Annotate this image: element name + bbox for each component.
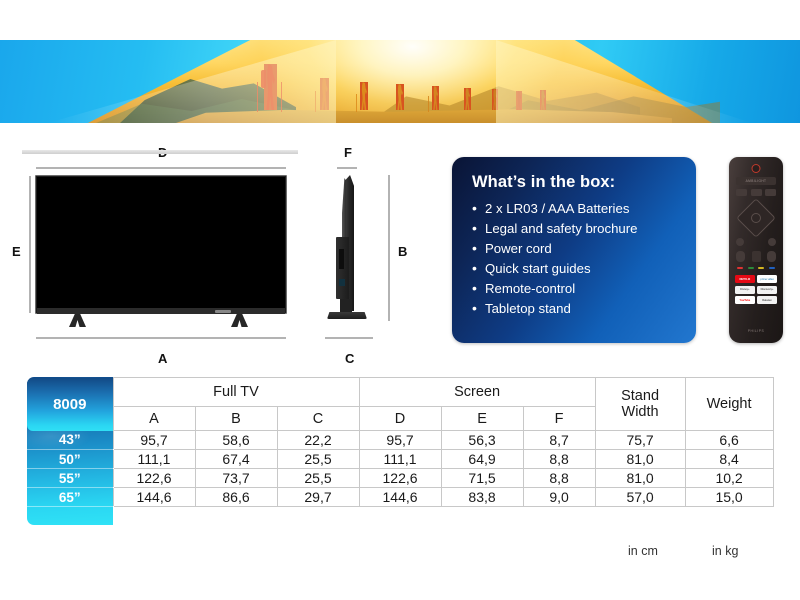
cell-c: 22,2 [277, 431, 359, 450]
red-button-icon [737, 267, 743, 269]
cell-f: 9,0 [523, 488, 595, 507]
tv-side-port-single [339, 279, 345, 286]
specifications-table-wrapper: 8009 Full TV Screen Stand Width Weight A… [27, 377, 773, 507]
ok-button-icon [751, 213, 761, 223]
sub-header-f: F [523, 407, 595, 431]
youtube-button: YouTube [735, 296, 755, 304]
tv-stand-base [327, 312, 367, 319]
power-button-icon [752, 164, 761, 173]
tv-side-view [331, 175, 361, 319]
sub-header-c: C [277, 407, 359, 431]
hiker-body [464, 88, 471, 110]
product-spec-sheet: D E A F B C What’s in the box: 2 x LR03 … [0, 0, 800, 600]
search-button-icon [751, 189, 762, 196]
sub-header-e: E [441, 407, 523, 431]
tv-foot-left [69, 314, 86, 327]
netflix-button: NETFLIX [735, 275, 755, 283]
dimension-line-d [36, 167, 286, 169]
remote-volume-row [736, 251, 776, 262]
box-item: Legal and safety brochure [472, 219, 678, 239]
tv-stand-neck [340, 299, 352, 314]
row-size-label: 50” [27, 450, 113, 469]
model-badge: 8009 [27, 378, 113, 431]
cell-a: 111,1 [113, 450, 195, 469]
dimension-label-f: F [344, 146, 352, 159]
cell-d: 95,7 [359, 431, 441, 450]
cell-a: 95,7 [113, 431, 195, 450]
cell-stand-width: 75,7 [595, 431, 685, 450]
tv-shelf-surface [22, 150, 298, 154]
cell-f: 8,7 [523, 431, 595, 450]
cell-b: 58,6 [195, 431, 277, 450]
cell-weight: 6,6 [685, 431, 773, 450]
dimension-line-a [36, 337, 286, 339]
box-contents-list: 2 x LR03 / AAA Batteries Legal and safet… [472, 199, 678, 319]
units-weight-label: in kg [712, 544, 738, 558]
dimension-line-b [388, 175, 390, 321]
table-header-group-row: 8009 Full TV Screen Stand Width Weight [27, 378, 773, 407]
dimension-label-c: C [345, 352, 354, 365]
mute-button-icon [752, 251, 761, 262]
dimension-label-b: B [398, 245, 407, 258]
remote-top-button-row [736, 189, 776, 196]
channel-rocker-icon [767, 251, 776, 262]
group-header-full-tv: Full TV [113, 378, 359, 407]
row-size-label: 43” [27, 431, 113, 450]
cell-d: 144,6 [359, 488, 441, 507]
banner-hiker-5 [432, 86, 439, 110]
cell-weight: 10,2 [685, 469, 773, 488]
box-item: 2 x LR03 / AAA Batteries [472, 199, 678, 219]
philips-brand-label: PHILIPS [729, 329, 783, 333]
banner-hiker-6 [464, 88, 471, 110]
discovery-plus-button: Discovery+ [757, 286, 777, 294]
cell-d: 122,6 [359, 469, 441, 488]
cell-weight: 8,4 [685, 450, 773, 469]
box-item: Remote-control [472, 279, 678, 299]
dimension-line-f [337, 167, 357, 169]
cell-stand-width: 57,0 [595, 488, 685, 507]
sub-header-d: D [359, 407, 441, 431]
sub-header-a: A [113, 407, 195, 431]
cell-weight: 15,0 [685, 488, 773, 507]
settings-button-icon [765, 189, 776, 196]
color-buttons-row [737, 267, 775, 269]
tv-logo-badge [215, 310, 231, 313]
cell-c: 25,5 [277, 450, 359, 469]
table-row: 43” 95,7 58,6 22,2 95,7 56,3 8,7 75,7 6,… [27, 431, 773, 450]
cell-f: 8,8 [523, 450, 595, 469]
stand-width-line2: Width [596, 404, 685, 420]
hiker-pole [428, 96, 429, 112]
table-row: 65” 144,6 86,6 29,7 144,6 83,8 9,0 57,0 … [27, 488, 773, 507]
cell-b: 67,4 [195, 450, 277, 469]
cell-stand-width: 81,0 [595, 469, 685, 488]
disney-plus-button: Disney+ [735, 286, 755, 294]
dimension-label-e: E [12, 245, 21, 258]
cell-e: 64,9 [441, 450, 523, 469]
banner-hiker-4 [396, 84, 404, 110]
hiker-body [432, 86, 439, 110]
tv-screen [37, 177, 285, 308]
tv-front-view [35, 175, 287, 314]
remote-middle-row [736, 238, 776, 246]
table-row: 50” 111,1 67,4 25,5 111,1 64,9 8,8 81,0 … [27, 450, 773, 469]
ambilight-button: AMBILIGHT [736, 177, 776, 185]
box-item: Quick start guides [472, 259, 678, 279]
dimension-line-e [29, 176, 31, 313]
cell-e: 56,3 [441, 431, 523, 450]
cell-b: 73,7 [195, 469, 277, 488]
cell-e: 71,5 [441, 469, 523, 488]
group-header-screen: Screen [359, 378, 595, 407]
source-button-icon [736, 189, 747, 196]
specifications-table: 8009 Full TV Screen Stand Width Weight A… [27, 377, 774, 507]
cell-f: 8,8 [523, 469, 595, 488]
hero-banner-image [0, 40, 800, 123]
rakuten-button: Rakuten [757, 296, 777, 304]
row-size-label: 65” [27, 488, 113, 507]
units-length-label: in cm [628, 544, 658, 558]
box-item: Tabletop stand [472, 299, 678, 319]
home-button-icon [768, 238, 776, 246]
dimension-label-a: A [158, 352, 167, 365]
header-weight: Weight [685, 378, 773, 431]
yellow-button-icon [758, 267, 764, 269]
back-button-icon [736, 238, 744, 246]
box-item: Power cord [472, 239, 678, 259]
hiker-pole [356, 94, 357, 112]
dimension-line-c [325, 337, 373, 339]
cell-stand-width: 81,0 [595, 450, 685, 469]
ambilight-label: AMBILIGHT [746, 179, 767, 183]
volume-rocker-icon [736, 251, 745, 262]
cell-a: 144,6 [113, 488, 195, 507]
streaming-app-buttons: NETFLIX prime video Disney+ Discovery+ Y… [735, 275, 777, 304]
tv-side-port-group [339, 249, 344, 269]
whats-in-the-box-panel: What’s in the box: 2 x LR03 / AAA Batter… [452, 157, 696, 343]
cell-b: 86,6 [195, 488, 277, 507]
table-row: 55” 122,6 73,7 25,5 122,6 71,5 8,8 81,0 … [27, 469, 773, 488]
prime-video-button: prime video [757, 275, 777, 283]
tv-chin [37, 308, 285, 314]
box-panel-title: What’s in the box: [472, 173, 678, 192]
stand-width-line1: Stand [596, 388, 685, 404]
tv-foot-right [231, 314, 248, 327]
header-stand-width: Stand Width [595, 378, 685, 431]
sub-header-b: B [195, 407, 277, 431]
banner-hiker-3 [360, 82, 368, 110]
remote-control-image: AMBILIGHT NETFLIX prime video Disney+ [729, 157, 783, 343]
cell-c: 25,5 [277, 469, 359, 488]
green-button-icon [748, 267, 754, 269]
table-body: 43” 95,7 58,6 22,2 95,7 56,3 8,7 75,7 6,… [27, 431, 773, 507]
cell-a: 122,6 [113, 469, 195, 488]
hiker-body [360, 82, 368, 110]
cell-d: 111,1 [359, 450, 441, 469]
cell-c: 29,7 [277, 488, 359, 507]
blue-button-icon [769, 267, 775, 269]
cell-e: 83,8 [441, 488, 523, 507]
hiker-body [396, 84, 404, 110]
row-size-label: 55” [27, 469, 113, 488]
